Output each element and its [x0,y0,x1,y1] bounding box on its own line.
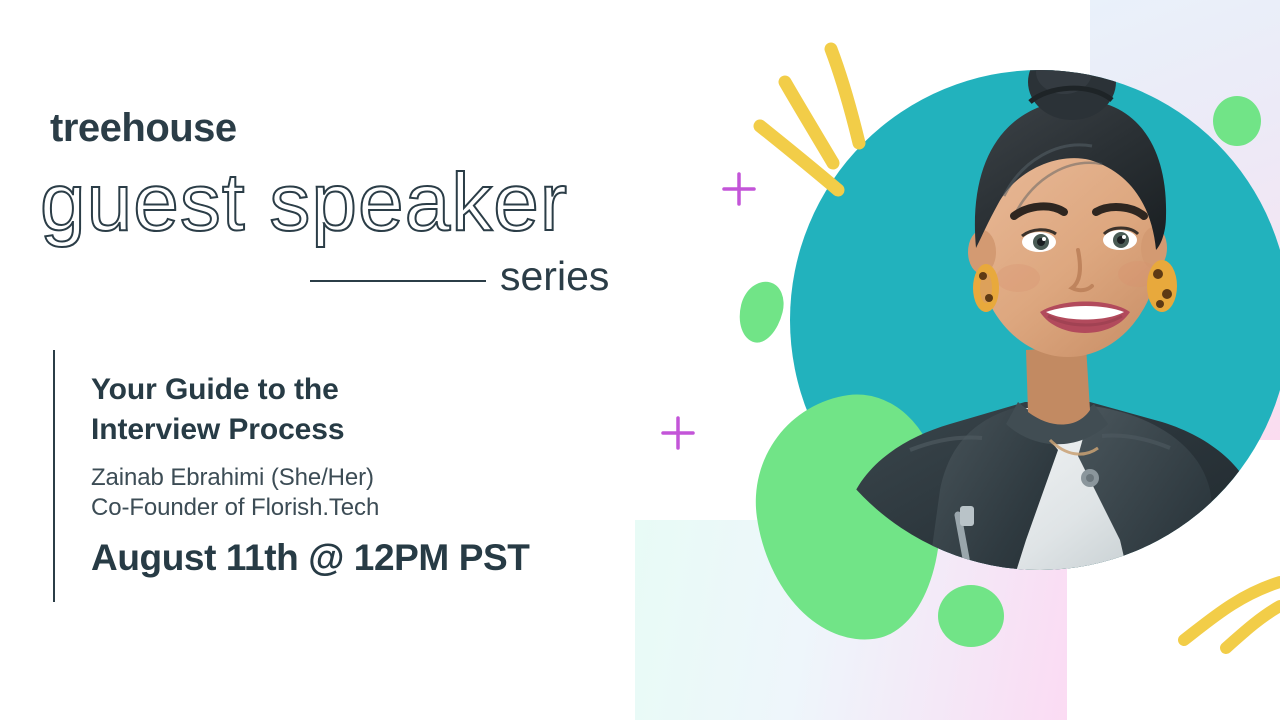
headline-series: series [500,256,609,297]
green-dot-bottom-shape [938,585,1004,647]
series-divider-rule [310,280,486,282]
brand-wordmark: treehouse [50,108,237,148]
event-datetime: August 11th @ 12PM PST [91,537,529,580]
vertical-accent-rule [53,350,55,602]
promo-slide: treehouse guest speaker series Your Guid… [0,0,1280,720]
speaker-role: Co-Founder of Florish.Tech [91,491,379,524]
portrait-frame [790,20,1280,635]
magenta-plus-icon-lower [663,418,693,448]
green-bean-shape [733,277,789,347]
text-column: treehouse guest speaker series Your Guid… [0,0,660,720]
session-title: Your Guide to the Interview Process [91,370,344,449]
headline-guest-speaker: guest speaker [40,160,568,246]
speaker-portrait [790,20,1280,635]
session-title-line2: Interview Process [91,410,344,450]
speaker-name: Zainab Ebrahimi (She/Her) [91,461,374,494]
session-title-line1: Your Guide to the [91,370,344,410]
magenta-plus-icon-upper [724,174,754,204]
